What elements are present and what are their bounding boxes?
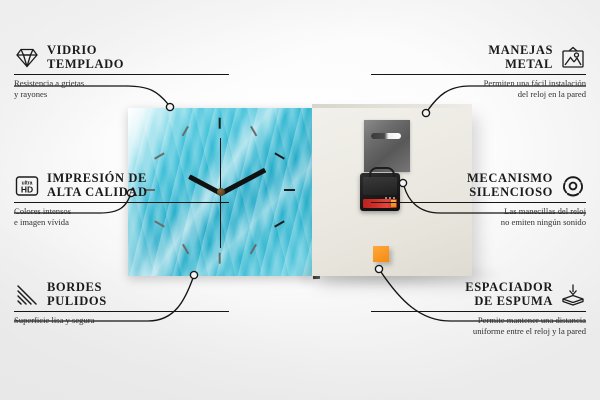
wire-endpoint-espaciador: [375, 265, 382, 272]
feature-title: ESPACIADOR DE ESPUMA: [465, 281, 553, 308]
feature-title: BORDES PULIDOS: [47, 281, 107, 308]
divider: [371, 74, 586, 75]
feature-description: Superficie lisa y segura: [14, 315, 229, 325]
feature-title: IMPRESIÓN DE ALTA CALIDAD: [47, 172, 148, 199]
feature-description: Resistencia a grietas y rayones: [14, 78, 229, 99]
diamond-icon: [14, 46, 40, 70]
divider: [14, 74, 229, 75]
polished-edge-icon: [14, 283, 40, 307]
feature-mecanismo-silencioso: MECANISMO SILENCIOSO Las manecillas del …: [371, 172, 586, 227]
feature-title: VIDRIO TEMPLADO: [47, 44, 124, 71]
ultra-hd-icon: ultra HD: [14, 174, 40, 198]
feature-title: MANEJAS METAL: [488, 44, 553, 71]
feature-espaciador-espuma: ESPACIADOR DE ESPUMA Permite mantener un…: [371, 281, 586, 336]
wire-endpoint-vidrio: [166, 103, 173, 110]
feature-vidrio-templado: VIDRIO TEMPLADO Resistencia a grietas y …: [14, 44, 229, 99]
divider: [371, 202, 586, 203]
feature-manejas-metal: MANEJAS METAL Permiten una fácil instala…: [371, 44, 586, 99]
divider: [371, 311, 586, 312]
wire-endpoint-bordes: [190, 271, 197, 278]
infographic-canvas: VIDRIO TEMPLADO Resistencia a grietas y …: [0, 0, 600, 400]
gear-icon: [560, 174, 586, 198]
picture-frame-hanger-icon: [560, 46, 586, 70]
feature-bordes-pulidos: BORDES PULIDOS Superficie lisa y segura: [14, 281, 229, 326]
feature-description: Permiten una fácil instalación del reloj…: [371, 78, 586, 99]
svg-text:HD: HD: [21, 184, 33, 194]
feature-title: MECANISMO SILENCIOSO: [467, 172, 553, 199]
foam-spacer-arrow-icon: [560, 283, 586, 307]
divider: [14, 202, 229, 203]
feature-description: Permite mantener una distancia uniforme …: [371, 315, 586, 336]
feature-description: Las manecillas del reloj no emiten ningú…: [371, 206, 586, 227]
feature-impresion-alta-calidad: ultra HD IMPRESIÓN DE ALTA CALIDAD Color…: [14, 172, 229, 227]
feature-description: Colores intensos e imagen vívida: [14, 206, 229, 227]
wire-endpoint-manejas: [422, 109, 429, 116]
divider: [14, 311, 229, 312]
